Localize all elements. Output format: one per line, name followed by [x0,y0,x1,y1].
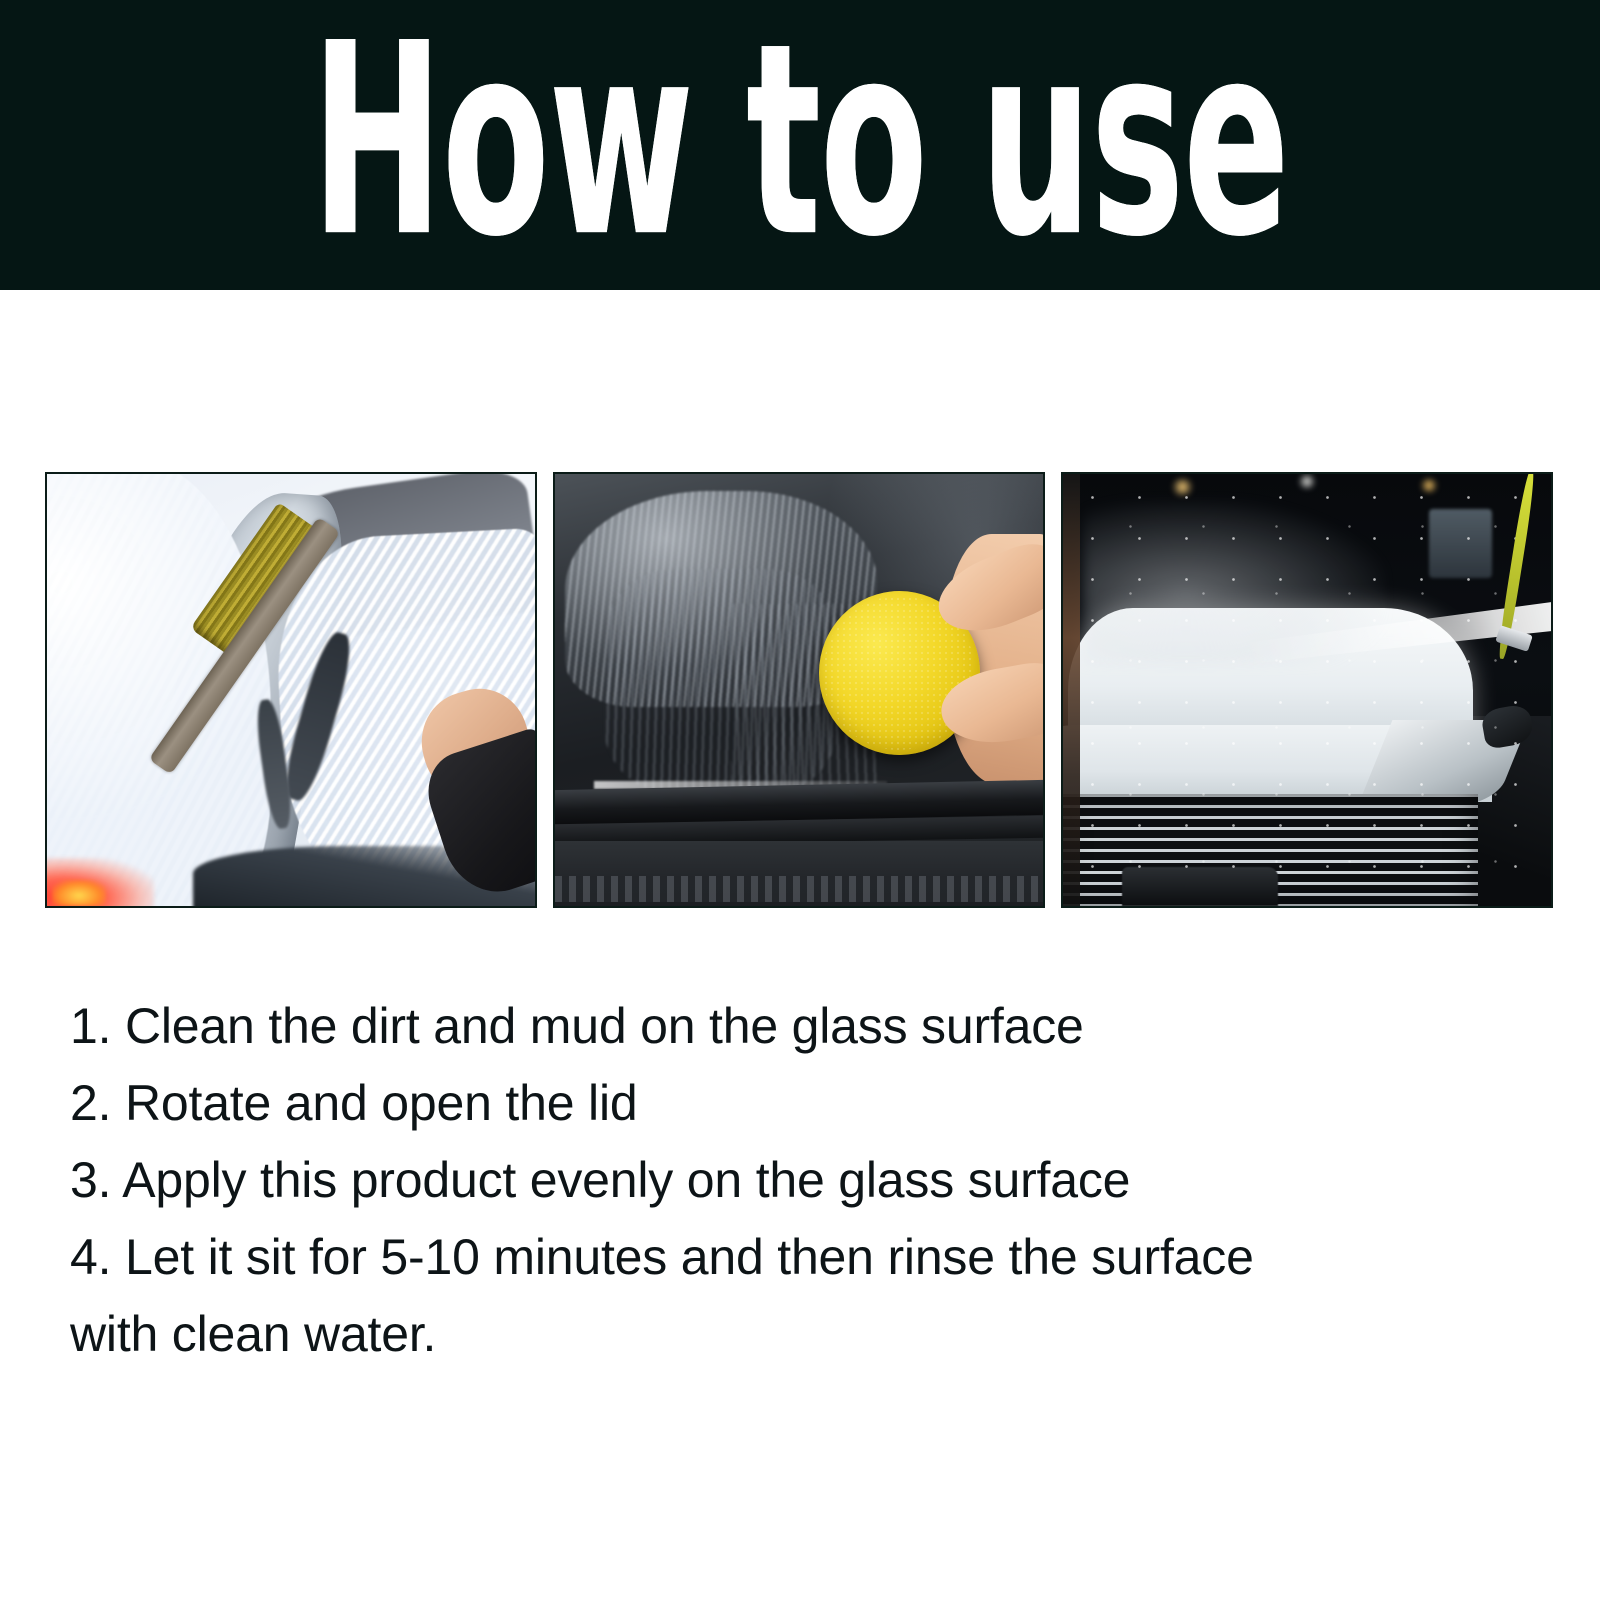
photo-apply-with-yellow-sponge: Hand pressing a round yellow foam applic… [553,472,1045,908]
water-droplets [1063,474,1551,906]
photo-rinse-with-pressure-washer: Dark car being rinsed in a wash bay, whi… [1061,472,1553,908]
instruction-step-3: 3. Apply this product evenly on the glas… [70,1142,1530,1219]
instruction-steps-list: 1. Clean the dirt and mud on the glass s… [70,988,1530,1373]
instruction-step-1: 1. Clean the dirt and mud on the glass s… [70,988,1530,1065]
instruction-step-4: 4. Let it sit for 5-10 minutes and then … [70,1219,1530,1296]
instruction-step-4-continued: with clean water. [70,1296,1530,1373]
photo-1-canvas [47,474,535,906]
taillight-amber-core [52,880,106,906]
instruction-photo-strip: Hand using a yellow bristled snow brush … [45,472,1555,908]
bay-left-edge-strip [1063,474,1080,906]
instruction-step-2: 2. Rotate and open the lid [70,1065,1530,1142]
header-banner: How to use [0,0,1600,290]
photo-2-canvas [555,474,1043,906]
cowl-vent-grating [555,876,1043,902]
photo-3-canvas [1063,474,1551,906]
photo-brush-snow-off-car: Hand using a yellow bristled snow brush … [45,472,537,908]
page-title: How to use [311,9,1288,274]
